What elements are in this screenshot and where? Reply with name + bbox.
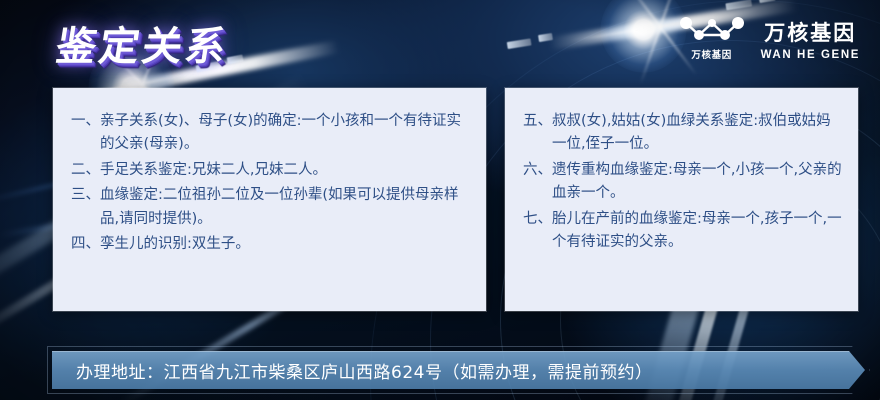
info-panel-right: 五、 叔叔(女),姑姑(女)血绿关系鉴定:叔伯或姑妈一位,侄子一位。 六、 遗传… <box>505 88 858 311</box>
brand-logo: 万核基因 万核基因 WAN HE GENE <box>679 16 860 61</box>
list-item-text: 叔叔(女),姑姑(女)血绿关系鉴定:叔伯或姑妈一位,侄子一位。 <box>552 110 842 157</box>
page-title: 鉴定关系 <box>52 14 233 72</box>
list-item: 一、 亲子关系(女)、母子(女)的确定:一个小孩和一个有待证实的父亲(母亲)。 <box>71 110 470 157</box>
slide-canvas: 鉴定关系 <box>0 0 880 400</box>
list-item-index: 七、 <box>523 208 552 231</box>
list-item: 二、 手足关系鉴定:兄妹二人,兄妹二人。 <box>71 159 470 182</box>
list-item-index: 六、 <box>523 159 552 182</box>
logo-wordmark: 万核基因 WAN HE GENE <box>761 17 860 61</box>
info-panel-left: 一、 亲子关系(女)、母子(女)的确定:一个小孩和一个有待证实的父亲(母亲)。 … <box>53 88 486 311</box>
list-item-text: 孪生儿的识别:双生子。 <box>100 233 470 256</box>
list-item-text: 遗传重构血缘鉴定:母亲一个,小孩一个,父亲的血亲一个。 <box>552 159 842 206</box>
list-item-text: 手足关系鉴定:兄妹二人,兄妹二人。 <box>100 159 470 182</box>
list-item: 六、 遗传重构血缘鉴定:母亲一个,小孩一个,父亲的血亲一个。 <box>523 159 842 206</box>
list-item-index: 三、 <box>71 184 100 207</box>
logo-mark: 万核基因 <box>679 16 745 61</box>
list-item: 七、 胎儿在产前的血缘鉴定:母亲一个,孩子一个,一个有待证实的父亲。 <box>523 208 842 255</box>
molecule-icon <box>679 16 745 44</box>
brand-name-en: WAN HE GENE <box>761 49 860 61</box>
logo-mark-caption: 万核基因 <box>691 47 731 61</box>
brand-name-cn: 万核基因 <box>764 17 856 47</box>
list-item-text: 亲子关系(女)、母子(女)的确定:一个小孩和一个有待证实的父亲(母亲)。 <box>100 110 470 157</box>
list-item-text: 血缘鉴定:二位祖孙二位及一位孙辈(如果可以提供母亲样品,请同时提供)。 <box>100 184 470 231</box>
header: 鉴定关系 <box>0 0 880 88</box>
list-item: 五、 叔叔(女),姑姑(女)血绿关系鉴定:叔伯或姑妈一位,侄子一位。 <box>523 110 842 157</box>
list-item-index: 一、 <box>71 110 100 133</box>
list-item: 四、 孪生儿的识别:双生子。 <box>71 233 470 256</box>
list-item-index: 四、 <box>71 233 100 256</box>
list-item-index: 二、 <box>71 159 100 182</box>
list-item-index: 五、 <box>523 110 552 133</box>
list-item-text: 胎儿在产前的血缘鉴定:母亲一个,孩子一个,一个有待证实的父亲。 <box>552 208 842 255</box>
address-banner-frame <box>47 346 870 394</box>
list-item: 三、 血缘鉴定:二位祖孙二位及一位孙辈(如果可以提供母亲样品,请同时提供)。 <box>71 184 470 231</box>
